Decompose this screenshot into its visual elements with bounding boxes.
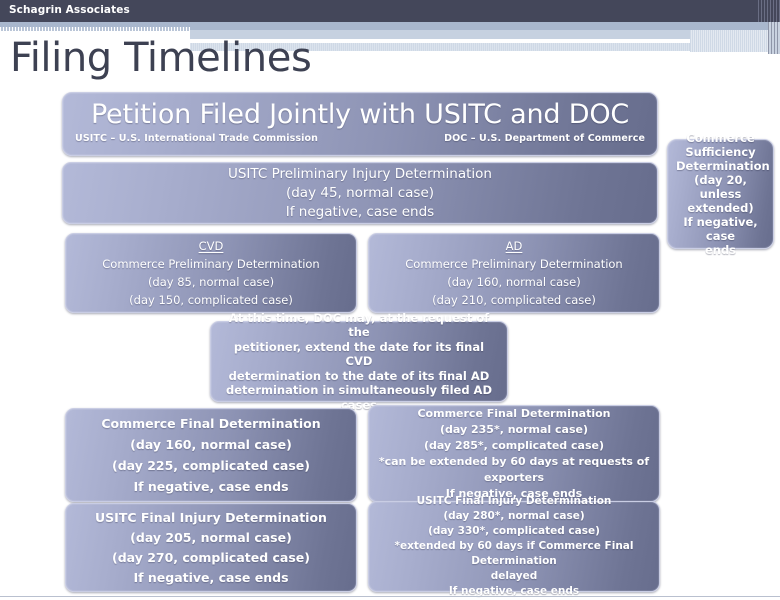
banner-title: Petition Filed Jointly with USITC and DO… [63, 99, 657, 131]
header-edge-stripes [768, 22, 780, 54]
node-line: Determination [676, 159, 765, 173]
node-line: extended) [676, 201, 765, 215]
node-line: At this time, DOC may, at the request of… [219, 311, 499, 340]
node-line: If negative, case ends [71, 203, 649, 222]
node-line: determination to the date of its final A… [219, 369, 499, 384]
node-line: USITC Final Injury Determination [377, 494, 651, 509]
node-petition-filed: Petition Filed Jointly with USITC and DO… [62, 92, 658, 156]
node-line: *can be extended by 60 days at requests … [377, 454, 651, 486]
node-line: (day 270, complicated case) [74, 548, 348, 568]
node-line: (day 205, normal case) [74, 528, 348, 548]
node-line: *extended by 60 days if Commerce Final D… [377, 539, 651, 569]
node-line: Commerce [676, 131, 765, 145]
node-line: If negative, case [676, 215, 765, 243]
node-line: (day 160, normal case) [74, 434, 348, 455]
node-line: (day 285*, complicated case) [377, 438, 651, 454]
node-line: If negative, case ends [74, 568, 348, 588]
node-line: USITC Preliminary Injury Determination [71, 165, 649, 184]
banner-legend: USITC – U.S. International Trade Commiss… [63, 133, 657, 144]
header-accent-hatch [0, 27, 190, 31]
node-line: (day 280*, normal case) [377, 509, 651, 524]
node-usitc-preliminary-injury: USITC Preliminary Injury Determination (… [62, 162, 658, 224]
node-line: (day 150, complicated case) [74, 291, 348, 309]
app-header-bar: Schagrin Associates [0, 0, 780, 22]
node-line: (day 45, normal case) [71, 184, 649, 203]
banner-legend-doc: DOC – U.S. Department of Commerce [444, 133, 645, 144]
node-line: (day 235*, normal case) [377, 422, 651, 438]
node-line: Sufficiency [676, 145, 765, 159]
node-line: (day 85, normal case) [74, 273, 348, 291]
node-line: petitioner, extend the date for its fina… [219, 340, 499, 369]
header-accent-block-right [690, 30, 780, 52]
node-commerce-sufficiency: Commerce Sufficiency Determination (day … [667, 139, 774, 249]
node-line: (day 20, unless [676, 173, 765, 201]
node-line: (day 225, complicated case) [74, 455, 348, 476]
node-heading: CVD [74, 237, 348, 255]
bottom-divider [0, 596, 780, 597]
node-ad-preliminary: AD Commerce Preliminary Determination (d… [368, 233, 660, 313]
node-line: delayed [377, 569, 651, 584]
node-cvd-preliminary: CVD Commerce Preliminary Determination (… [65, 233, 357, 313]
node-doc-extension-note: At this time, DOC may, at the request of… [210, 321, 508, 402]
node-line: Commerce Final Determination [74, 413, 348, 434]
node-usitc-final-cvd: USITC Final Injury Determination (day 20… [65, 503, 357, 592]
node-heading: AD [377, 237, 651, 255]
node-commerce-final-cvd: Commerce Final Determination (day 160, n… [65, 408, 357, 502]
node-line: determination in simultaneously filed AD [219, 383, 499, 398]
brand-label: Schagrin Associates [9, 4, 130, 16]
header-edge-pattern [758, 0, 780, 22]
node-line: (day 330*, complicated case) [377, 524, 651, 539]
node-line: (day 160, normal case) [377, 273, 651, 291]
node-line: Commerce Preliminary Determination [74, 255, 348, 273]
node-line: USITC Final Injury Determination [74, 508, 348, 528]
node-line: Commerce Final Determination [377, 406, 651, 422]
page-title: Filing Timelines [10, 36, 311, 80]
node-line: (day 210, complicated case) [377, 291, 651, 309]
node-commerce-final-ad: Commerce Final Determination (day 235*, … [368, 405, 660, 502]
node-line: ends [676, 243, 765, 257]
banner-legend-usitc: USITC – U.S. International Trade Commiss… [75, 133, 318, 144]
node-line: Commerce Preliminary Determination [377, 255, 651, 273]
node-usitc-final-ad: USITC Final Injury Determination (day 28… [368, 501, 660, 592]
node-line: If negative, case ends [74, 476, 348, 497]
